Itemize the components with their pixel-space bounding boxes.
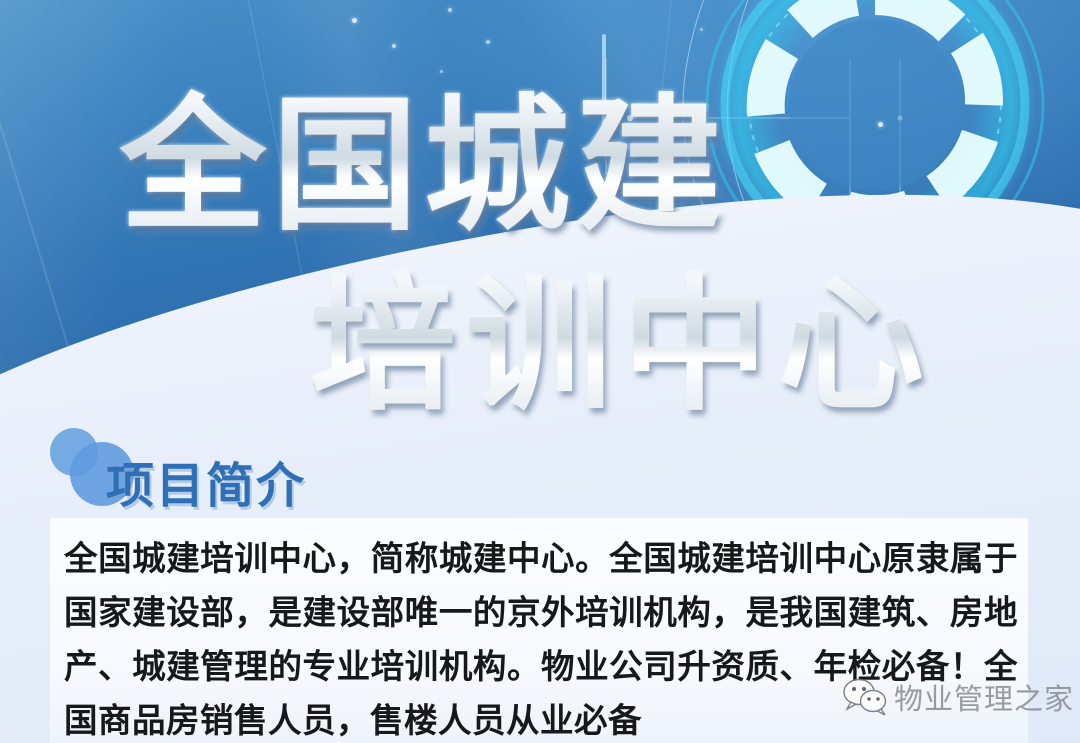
watermark: 物业管理之家 bbox=[842, 676, 1074, 718]
section-heading-label: 项目简介 bbox=[106, 446, 306, 516]
poster-title: 全国城建 培训中心 bbox=[0, 0, 1080, 420]
poster-canvas: 全国城建 培训中心 项目简介 全国城建培训中心，简称城建中心。全国城建培训中心原… bbox=[0, 0, 1080, 743]
wechat-icon bbox=[842, 677, 888, 717]
watermark-label: 物业管理之家 bbox=[894, 676, 1074, 718]
title-line-2: 培训中心 bbox=[310, 228, 934, 439]
